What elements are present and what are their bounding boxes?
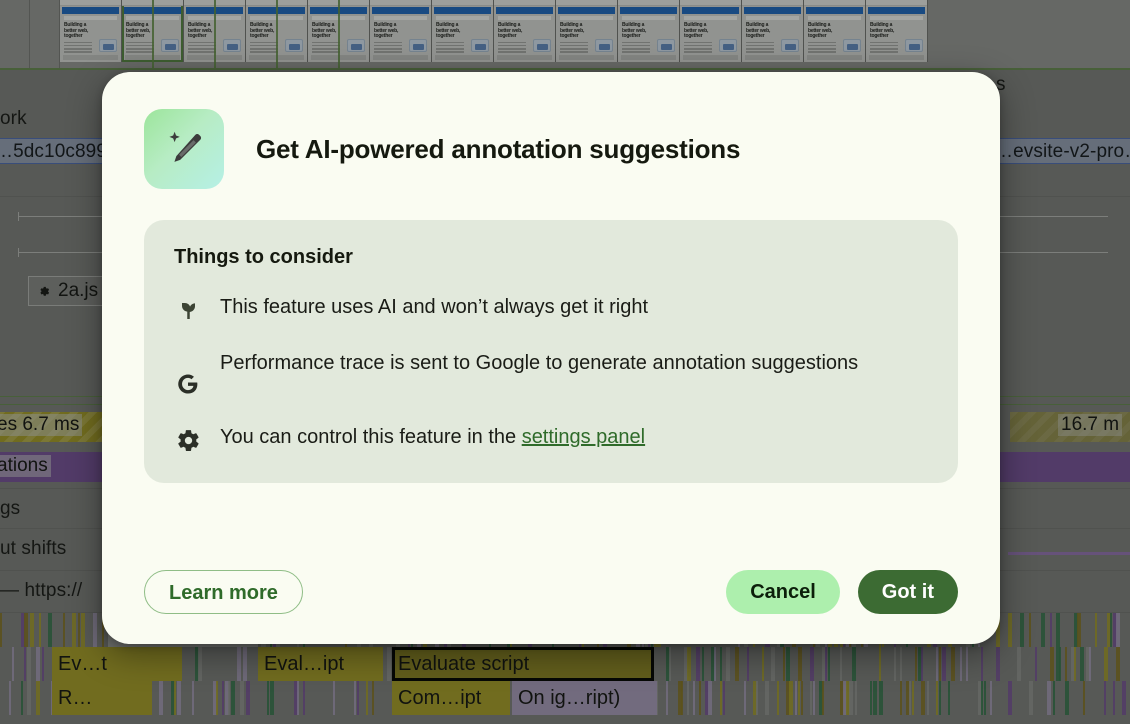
flame-noise-segment [708, 681, 712, 715]
filmstrip-thumbnail[interactable]: Building a better web, together [60, 0, 122, 62]
flame-noise-segment [48, 613, 52, 647]
primary-actions: Cancel Got it [726, 570, 958, 614]
flame-noise-segment [762, 647, 764, 681]
flame-noise-segment [744, 681, 746, 715]
thumb-header-bar [806, 7, 863, 14]
flame-noise-segment [270, 681, 274, 715]
card-heading: Things to consider [174, 246, 928, 269]
filmstrip-thumbnail[interactable]: Building a better web, together [618, 0, 680, 62]
flame-noise-segment [81, 613, 85, 647]
flame-noise-segment [981, 647, 983, 681]
thumb-browser-chrome [680, 0, 741, 6]
thumb-subbar [560, 16, 613, 20]
flame-noise-segment [240, 681, 244, 715]
flame-noise-segment [990, 681, 992, 715]
filmstrip-thumbnail[interactable]: Building a better web, together [370, 0, 432, 62]
filmstrip-track[interactable]: Building a better web, togetherBuilding … [0, 0, 1130, 68]
thumb-subbar [436, 16, 489, 20]
flame-noise-segment [1059, 647, 1061, 681]
thumb-subbar [870, 16, 923, 20]
flame-noise-segment [687, 647, 691, 681]
thumb-illustration [905, 39, 923, 52]
flame-noise-segment [984, 681, 986, 715]
flame-noise-segment [669, 647, 671, 681]
network-request-label-right: …evsite-v2-pro… [994, 139, 1130, 164]
ai-annotations-dialog: Get AI-powered annotation suggestions Th… [102, 72, 1000, 644]
flame-noise-segment [681, 681, 683, 715]
flame-noise-segment [93, 613, 97, 647]
flame-noise-segment [1077, 613, 1081, 647]
flame-segment-label: Evaluate script [392, 647, 654, 681]
flame-noise-segment [9, 681, 11, 715]
flame-segment[interactable]: Eval…ipt [258, 647, 383, 681]
thumb-header-bar [682, 7, 739, 14]
flame-noise-segment [174, 681, 176, 715]
thumb-browser-chrome [60, 0, 121, 6]
flame-noise-segment [756, 681, 758, 715]
thumb-heading: Building a better web, together [808, 23, 838, 40]
thumb-illustration [781, 39, 799, 52]
flame-noise-segment [12, 647, 14, 681]
flame-noise-segment [771, 647, 775, 681]
flame-noise-segment [354, 681, 356, 715]
flame-segment-label: Com…ipt [392, 681, 510, 715]
flame-noise-segment [24, 613, 28, 647]
flame-noise-segment [666, 681, 668, 715]
thumb-illustration [285, 39, 303, 52]
script-chip[interactable]: 2a.js [28, 276, 107, 306]
filmstrip-divider [276, 0, 278, 68]
filmstrip-thumbnail[interactable]: Building a better web, together [556, 0, 618, 62]
flame-row[interactable]: R…Com…iptOn ig…ript) [0, 681, 1130, 715]
flame-noise-segment [942, 647, 946, 681]
flame-noise-segment [1104, 681, 1106, 715]
flame-noise-segment [1017, 647, 1021, 681]
thumb-illustration [161, 39, 179, 52]
settings-panel-link[interactable]: settings panel [522, 426, 645, 448]
thumb-footer [745, 55, 800, 60]
flame-noise-segment [267, 681, 269, 715]
thumb-illustration [471, 39, 489, 52]
flame-noise-segment [228, 681, 230, 715]
flame-noise-segment [735, 647, 739, 681]
list-item-text: Performance trace is sent to Google to g… [220, 347, 858, 379]
screen: Building a better web, togetherBuilding … [0, 0, 1130, 724]
thumb-heading: Building a better web, together [498, 23, 528, 40]
thumb-header-bar [558, 7, 615, 14]
flame-noise-segment [960, 647, 962, 681]
flame-noise-segment [912, 681, 914, 715]
flame-segment-label: R… [52, 681, 152, 715]
flame-noise-segment [1122, 681, 1126, 715]
flame-noise-segment [909, 681, 911, 715]
flame-row[interactable]: Ev…tEval…iptEvaluate script [0, 647, 1130, 681]
flame-noise-segment [372, 681, 374, 715]
flame-noise-segment [36, 647, 40, 681]
thumb-browser-chrome [494, 0, 555, 6]
thumb-header-bar [868, 7, 925, 14]
filmstrip-thumbnail[interactable]: Building a better web, together [432, 0, 494, 62]
filmstrip-divider [152, 0, 154, 68]
flame-noise-segment [1020, 613, 1024, 647]
flame-noise-segment [921, 681, 925, 715]
flame-noise-segment [777, 681, 779, 715]
flame-noise-segment [357, 681, 359, 715]
thumb-heading: Building a better web, together [560, 23, 590, 40]
thumb-browser-chrome [432, 0, 493, 6]
thumb-illustration [409, 39, 427, 52]
flame-segment-label: Eval…ipt [258, 647, 383, 681]
flame-noise-segment [939, 647, 941, 681]
flame-noise-segment [879, 681, 883, 715]
flame-noise-segment [237, 647, 241, 681]
cancel-button[interactable]: Cancel [726, 570, 840, 614]
thumb-footer [683, 55, 738, 60]
thumb-footer [559, 55, 614, 60]
flame-noise-segment [822, 681, 824, 715]
flame-noise-segment [1047, 681, 1051, 715]
timeline-label-layoutshifts: ut shifts [0, 538, 66, 560]
flame-noise-segment [702, 647, 704, 681]
flame-noise-segment [1080, 647, 1084, 681]
flame-noise-segment [879, 647, 881, 681]
thumb-heading: Building a better web, together [684, 23, 714, 40]
flame-noise-segment [39, 613, 41, 647]
flame-noise-segment [1029, 681, 1033, 715]
flame-segment[interactable]: Ev…t [52, 647, 182, 681]
flame-noise-segment [789, 681, 793, 715]
flame-noise-segment [900, 647, 902, 681]
flame-noise-segment [1050, 647, 1054, 681]
flame-noise-segment [1056, 613, 1060, 647]
filmstrip-thumbnail[interactable]: Building a better web, together [680, 0, 742, 62]
timing-bar-purple[interactable] [1000, 452, 1130, 482]
ai-magic-wand-icon [144, 109, 224, 189]
list-item-text: This feature uses AI and won’t always ge… [220, 291, 648, 323]
flame-noise-segment [693, 681, 695, 715]
flame-noise-segment [915, 647, 917, 681]
timeline-label-logs: gs [0, 498, 20, 520]
timeline-label-network: ork [0, 108, 27, 130]
flame-noise-segment [387, 647, 391, 681]
thumb-heading: Building a better web, together [746, 23, 776, 40]
flame-noise-segment [63, 613, 65, 647]
gear-icon [174, 421, 202, 453]
thumb-footer [373, 55, 428, 60]
flame-noise-segment [900, 681, 902, 715]
flame-noise-segment [726, 647, 730, 681]
flame-segment[interactable]: Com…ipt [392, 681, 510, 715]
timing-bar-label: ations [0, 455, 51, 477]
filmstrip-gap [0, 0, 30, 68]
thumb-browser-chrome [742, 0, 803, 6]
filmstrip-divider [214, 0, 216, 68]
filmstrip-thumbnail[interactable]: Building a better web, together [804, 0, 866, 62]
panel-divider [0, 68, 1130, 70]
gear-icon [37, 284, 51, 298]
flame-noise-segment [231, 681, 235, 715]
flame-segment[interactable]: On ig…ript) [512, 681, 657, 715]
flame-segment[interactable]: Evaluate script [392, 647, 654, 681]
flame-noise-segment [1041, 613, 1045, 647]
flame-noise-segment [720, 681, 722, 715]
flame-noise-segment [1050, 613, 1052, 647]
flame-noise-segment [30, 613, 34, 647]
flame-noise-segment [996, 647, 1000, 681]
thumb-footer [435, 55, 490, 60]
thumb-browser-chrome [618, 0, 679, 6]
thumb-illustration [595, 39, 613, 52]
got-it-button[interactable]: Got it [858, 570, 958, 614]
flame-noise-segment [1116, 613, 1120, 647]
things-to-consider-card: Things to consider This feature uses AI … [144, 220, 958, 483]
flame-noise-segment [1095, 613, 1097, 647]
flame-noise-segment [1065, 681, 1069, 715]
list-item: This feature uses AI and won’t always ge… [174, 291, 928, 323]
flame-noise-segment [297, 681, 299, 715]
flame-noise-segment [1008, 613, 1012, 647]
flame-noise-segment [159, 681, 163, 715]
flame-noise-segment [1008, 681, 1012, 715]
flame-noise-segment [936, 647, 938, 681]
flame-noise-segment [813, 681, 815, 715]
flame-noise-segment [828, 647, 830, 681]
consider-list: This feature uses AI and won’t always ge… [174, 291, 928, 453]
thumb-illustration [719, 39, 737, 52]
thumb-footer [869, 55, 924, 60]
flame-noise-segment [1029, 613, 1031, 647]
flame-noise-segment [687, 681, 689, 715]
flame-noise-segment [801, 681, 803, 715]
flame-noise-segment [786, 647, 790, 681]
layout-shift-marker[interactable] [1008, 552, 1130, 555]
flame-noise-segment [333, 681, 335, 715]
sprout-icon [174, 291, 202, 322]
flame-noise-segment [78, 613, 80, 647]
timing-bar-label: 16.7 m [1058, 414, 1122, 436]
flame-noise-segment [177, 681, 181, 715]
thumb-illustration [99, 39, 117, 52]
flame-noise-segment [36, 681, 40, 715]
flame-noise-segment [873, 681, 877, 715]
thumb-illustration [223, 39, 241, 52]
flame-noise-segment [936, 681, 938, 715]
list-item-text-prefix: You can control this feature in the [220, 426, 522, 448]
thumb-heading: Building a better web, together [622, 23, 652, 40]
thumb-heading: Building a better web, together [870, 23, 900, 40]
flame-noise-segment [243, 647, 247, 681]
dialog-title: Get AI-powered annotation suggestions [256, 134, 740, 165]
thumb-browser-chrome [866, 0, 927, 6]
filmstrip-thumbnail[interactable]: Building a better web, together [866, 0, 928, 62]
thumb-illustration [657, 39, 675, 52]
flame-noise-segment [72, 613, 76, 647]
filmstrip-thumbnail[interactable]: Building a better web, together [494, 0, 556, 62]
list-item: You can control this feature in the sett… [174, 421, 928, 453]
flame-noise-segment [42, 647, 44, 681]
flame-noise-segment [894, 647, 896, 681]
thumb-subbar [374, 16, 427, 20]
flame-noise-segment [951, 647, 955, 681]
flame-noise-segment [303, 681, 305, 715]
flame-noise-segment [720, 647, 722, 681]
flame-noise-segment [852, 647, 856, 681]
thumb-header-bar [744, 7, 801, 14]
thumb-header-bar [62, 7, 119, 14]
flame-noise-segment [966, 647, 968, 681]
thumb-illustration [843, 39, 861, 52]
filmstrip-thumbnail[interactable]: Building a better web, together [742, 0, 804, 62]
flame-segment-label: On ig…ript) [512, 681, 657, 715]
flame-noise-segment [1053, 681, 1055, 715]
thumb-footer [63, 55, 118, 60]
flame-noise-segment [723, 681, 725, 715]
flame-segment[interactable]: R… [52, 681, 152, 715]
flame-noise-segment [1113, 681, 1115, 715]
thumb-browser-chrome [370, 0, 431, 6]
flame-noise-segment [699, 681, 701, 715]
flame-noise-segment [855, 681, 857, 715]
flame-noise-segment [24, 647, 26, 681]
dialog-actions: Learn more Cancel Got it [144, 544, 958, 644]
filmstrip-divider [338, 0, 340, 68]
dialog-header: Get AI-powered annotation suggestions [144, 108, 958, 190]
flame-noise-segment [246, 681, 250, 715]
flame-noise-segment [27, 647, 31, 681]
filmstrip-gap [30, 0, 60, 68]
thumb-subbar [64, 16, 117, 20]
thumb-illustration [533, 39, 551, 52]
flame-noise-segment [810, 647, 814, 681]
flame-noise-segment [192, 681, 194, 715]
flame-noise-segment [21, 681, 23, 715]
thumb-footer [621, 55, 676, 60]
thumb-footer [807, 55, 862, 60]
flame-noise-segment [198, 647, 202, 681]
thumb-header-bar [620, 7, 677, 14]
flame-segment-label: Ev…t [52, 647, 182, 681]
list-item-text: You can control this feature in the sett… [220, 421, 645, 453]
flame-noise-segment [927, 681, 929, 715]
thumb-browser-chrome [556, 0, 617, 6]
flame-noise-segment [765, 681, 769, 715]
thumb-heading: Building a better web, together [64, 23, 94, 40]
flame-noise-segment [825, 647, 827, 681]
learn-more-button[interactable]: Learn more [144, 570, 303, 614]
flame-noise-segment [1116, 647, 1120, 681]
google-g-icon [174, 347, 202, 397]
flame-noise-segment [810, 681, 812, 715]
flame-noise-segment [870, 681, 872, 715]
flame-noise-segment [216, 681, 218, 715]
flame-noise-segment [1104, 647, 1108, 681]
script-chip-label: 2a.js [58, 277, 98, 305]
thumb-browser-chrome [804, 0, 865, 6]
flame-noise-segment [1035, 647, 1037, 681]
thumb-subbar [746, 16, 799, 20]
timeline-label-url: — https:// [0, 580, 82, 602]
thumb-heading: Building a better web, together [374, 23, 404, 40]
flame-noise-segment [747, 647, 749, 681]
list-item: Performance trace is sent to Google to g… [174, 347, 928, 397]
thumb-header-bar [496, 7, 553, 14]
flame-noise-segment [939, 681, 941, 715]
flame-noise-segment [840, 647, 842, 681]
thumb-heading: Building a better web, together [436, 23, 466, 40]
flame-noise-segment [1065, 647, 1067, 681]
flame-noise-segment [1083, 681, 1085, 715]
flame-noise-segment [222, 681, 224, 715]
thumb-subbar [684, 16, 737, 20]
flame-noise-segment [849, 681, 853, 715]
thumb-illustration [347, 39, 365, 52]
thumb-subbar [808, 16, 861, 20]
flame-noise-segment [783, 647, 785, 681]
flame-noise-segment [981, 681, 983, 715]
thumb-header-bar [434, 7, 491, 14]
flame-noise-segment [696, 647, 700, 681]
flame-noise-segment [795, 681, 797, 715]
flame-noise-segment [27, 681, 31, 715]
flame-noise-segment [0, 613, 2, 647]
flame-noise-segment [948, 681, 950, 715]
flame-noise-segment [366, 681, 368, 715]
thumb-subbar [498, 16, 551, 20]
flame-noise-segment [1110, 613, 1112, 647]
thumb-footer [497, 55, 552, 60]
timing-bar-label: es 6.7 ms [0, 414, 82, 436]
thumb-subbar [622, 16, 675, 20]
flame-noise-segment [714, 647, 716, 681]
flame-noise-segment [1074, 647, 1076, 681]
flame-noise-segment [798, 681, 800, 715]
flame-noise-segment [1089, 647, 1091, 681]
flame-noise-segment [798, 647, 802, 681]
thumb-header-bar [372, 7, 429, 14]
flame-noise-segment [921, 647, 923, 681]
